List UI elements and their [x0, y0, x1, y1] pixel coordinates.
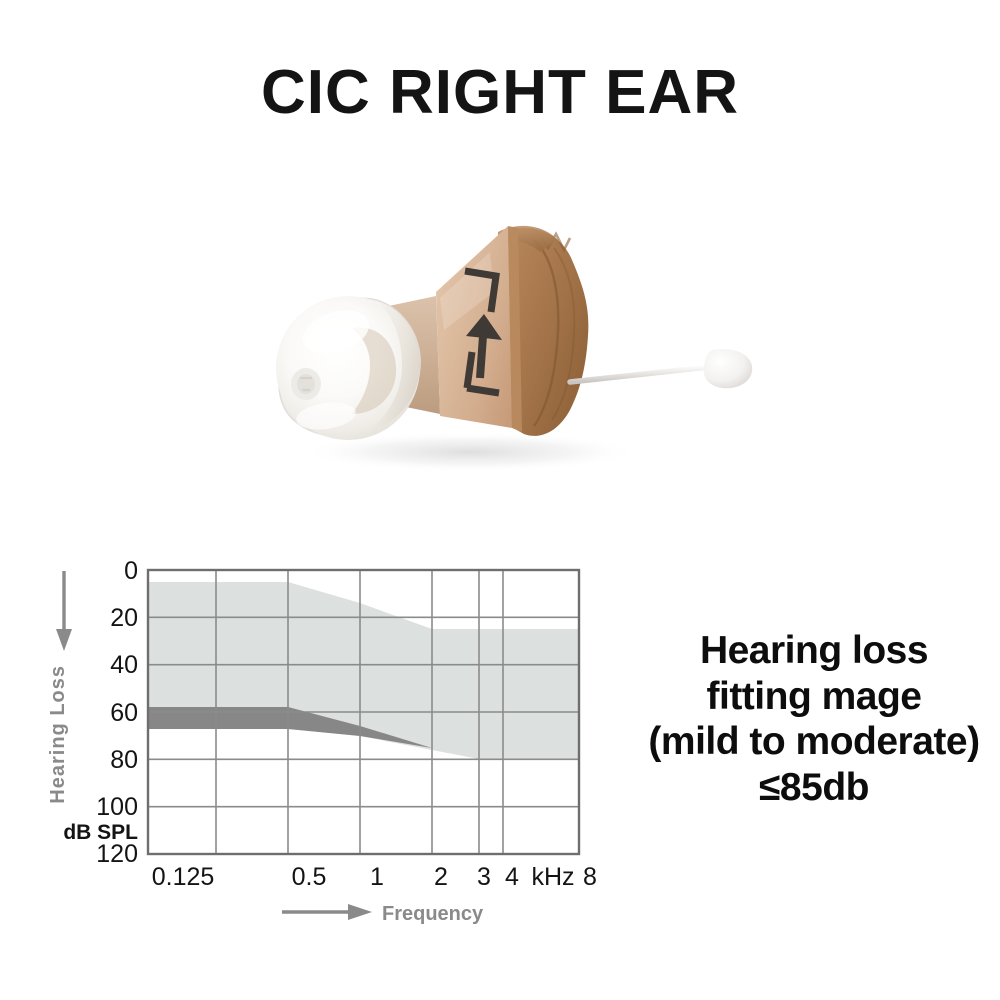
y-tick-120: 120 [96, 840, 138, 868]
x-tick-1: 1 [370, 863, 384, 891]
x-tick-2: 2 [434, 863, 448, 891]
x-tick-labels: 0.125 0.5 1 2 3 4 kHz 8 [152, 863, 597, 891]
x-axis-unit: kHz [531, 863, 574, 891]
x-axis-label: Frequency [382, 903, 484, 925]
x-tick-4: 4 [505, 863, 519, 891]
page-title: CIC RIGHT EAR [0, 62, 1000, 124]
product-image [240, 200, 780, 500]
pull-cord-handle [704, 349, 753, 388]
y-tick-20: 20 [110, 604, 138, 632]
caption-line-3: (mild to moderate) [630, 719, 998, 765]
x-tick-3: 3 [477, 863, 491, 891]
x-axis-label-group: Frequency [282, 903, 484, 925]
caption-line-4: ≤85db [630, 765, 998, 811]
y-tick-0: 0 [124, 557, 138, 585]
y-tick-60: 60 [110, 699, 138, 727]
audiogram-chart: 0 20 40 60 80 100 120 dB SPL Hearing Los… [20, 535, 630, 935]
x-tick-05: 0.5 [292, 863, 327, 891]
cic-hearing-aid-illustration [240, 200, 780, 500]
y-tick-100: 100 [96, 793, 138, 821]
y-axis-label-group: Hearing Loss [47, 571, 72, 804]
dome-vent-hole [291, 368, 321, 400]
x-tick-8: 8 [583, 863, 597, 891]
caption-line-1: Hearing loss [630, 628, 998, 674]
y-axis-unit: dB SPL [63, 821, 138, 844]
caption-line-2: fitting mage [630, 674, 998, 720]
hearing-loss-fitting-range-chart: 0 20 40 60 80 100 120 dB SPL Hearing Los… [20, 535, 630, 935]
y-axis-label: Hearing Loss [47, 665, 69, 804]
x-tick-0125: 0.125 [152, 863, 215, 891]
pull-cord [570, 366, 718, 382]
y-tick-80: 80 [110, 746, 138, 774]
fitting-description: Hearing loss fitting mage (mild to moder… [630, 628, 998, 811]
y-tick-40: 40 [110, 651, 138, 679]
